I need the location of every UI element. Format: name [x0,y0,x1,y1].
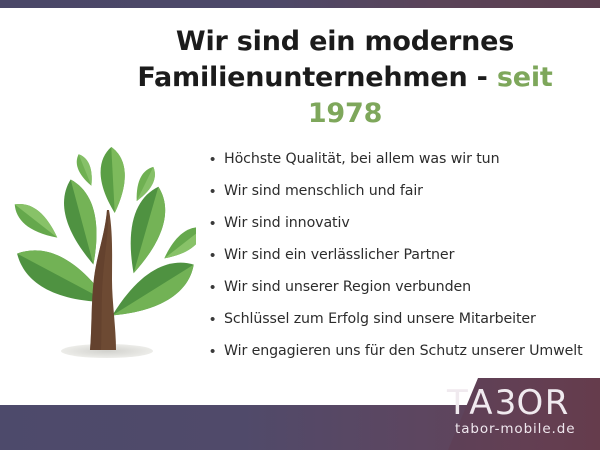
list-item-label: Wir engagieren uns für den Schutz unsere… [224,343,583,359]
list-item: • Wir sind menschlich und fair [210,175,595,207]
headline-line-2-plain: Familienunternehmen - [137,62,497,93]
leaf-lower-right [104,251,196,329]
list-item: • Wir sind ein verlässlicher Partner [210,239,595,271]
leaf-far-left-upper [9,197,63,245]
bullet-icon: • [210,248,224,263]
tree-svg [6,138,196,366]
list-item-label: Wir sind ein verlässlicher Partner [224,247,454,263]
wordmark-letter-a: A [469,386,494,420]
wordmark-letter-o: O [516,386,544,420]
leaf-top-small-left [73,152,97,188]
headline-line-1: Wir sind ein modernes [110,24,580,60]
bullet-icon: • [210,280,224,295]
brand-tagline: tabor-mobile.de [455,423,575,437]
leaf-upper-right [119,183,173,278]
list-item-label: Wir sind menschlich und fair [224,183,423,199]
brand-wordmark: TAƐOR [447,386,570,420]
list-item: • Wir engagieren uns für den Schutz unse… [210,335,595,367]
tree-logo-illustration [6,138,196,366]
top-accent-bar [0,0,600,8]
bullet-icon: • [210,152,224,167]
list-item-label: Wir sind unserer Region verbunden [224,279,471,295]
list-item: • Wir sind unserer Region verbunden [210,271,595,303]
slide-canvas: Wir sind ein modernes Familienunternehme… [0,0,600,450]
list-item-label: Wir sind innovativ [224,215,350,231]
leaf-far-right [159,221,196,265]
leaf-top-center [99,146,127,213]
list-item: • Wir sind innovativ [210,207,595,239]
wordmark-letter-t: T [447,386,469,420]
list-item: • Höchste Qualität, bei allem was wir tu… [210,143,595,175]
bullet-icon: • [210,184,224,199]
bullet-icon: • [210,216,224,231]
list-item-label: Höchste Qualität, bei allem was wir tun [224,151,499,167]
headline-line-2: Familienunternehmen - seit 1978 [110,60,580,132]
list-item: • Schlüssel zum Erfolg sind unsere Mitar… [210,303,595,335]
wordmark-letter-r: R [545,386,570,420]
bullet-icon: • [210,344,224,359]
bullet-icon: • [210,312,224,327]
wordmark-letter-b: Ɛ [494,386,516,420]
page-title: Wir sind ein modernes Familienunternehme… [110,24,580,133]
list-item-label: Schlüssel zum Erfolg sind unsere Mitarbe… [224,311,536,327]
value-bullet-list: • Höchste Qualität, bei allem was wir tu… [210,143,595,367]
